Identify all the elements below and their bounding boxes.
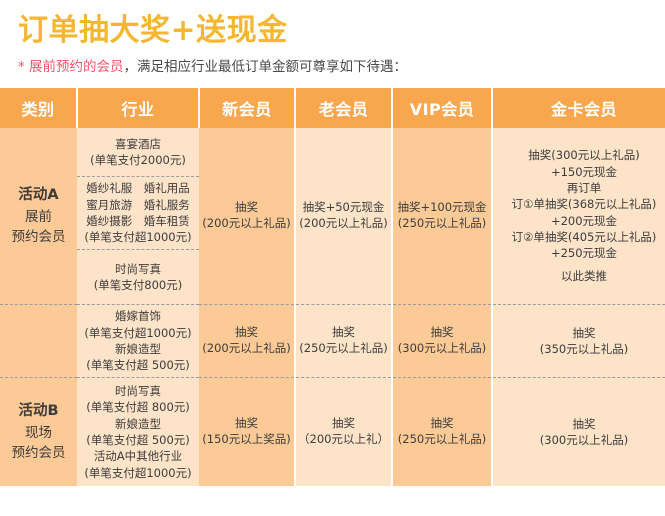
benefit-line: (150元以上奖品) [199,432,294,448]
benefit-line: 抽奖+50元现金 [296,200,391,216]
benefit-line: (250元以上礼品) [393,216,491,232]
benefit-line: 抽奖 [493,325,665,341]
benefit-cell-a-new: 抽奖 (200元以上礼品) [199,128,295,304]
table-header: 类别 行业 新会员 老会员 VIP会员 金卡会员 [0,88,665,128]
benefit-line: +200元现金 [493,213,665,229]
benefit-line: (250元以上礼品) [393,432,491,448]
industry-line: 时尚写真 [77,261,199,277]
promo-subtitle: * 展前预约的会员，满足相应行业最低订单金额可尊享如下待遇： [18,59,665,75]
industry-line: (单笔支付超 800元) [77,399,199,415]
industry-line: (单笔支付超1000元) [77,229,199,245]
category-cell-activity-a: 活动A 展前 预约会员 [0,128,77,304]
benefit-line: 抽奖 [199,325,294,341]
category-sub-1: 现场 [0,423,77,443]
column-header-gold-member: 金卡会员 [492,88,665,128]
benefit-line: 抽奖+100元现金 [393,200,491,216]
industry-cell-fashion-photo: 时尚写真 (单笔支付800元) [77,250,199,305]
benefit-cell-a-old: 抽奖+50元现金 (200元以上礼品) [295,128,392,304]
benefit-line: (300元以上礼品) [493,432,665,448]
industry-line: (单笔支付超1000元) [77,325,199,341]
industry-cell-activity-b: 时尚写真 (单笔支付超 800元) 新娘造型 (单笔支付超 500元) 活动A中… [77,378,199,487]
benefit-line: 抽奖 [199,200,294,216]
category-sub-1: 展前 [0,207,77,227]
benefits-table: 类别 行业 新会员 老会员 VIP会员 金卡会员 活动A 展前 预约会员 喜宴酒… [0,88,665,486]
table-row: 活动A 展前 预约会员 喜宴酒店 (单笔支付2000元) 抽奖 (200元以上礼… [0,128,665,177]
benefit-line: 订①单抽奖(368元以上礼品) [493,196,665,212]
benefit-cell-b-old: 抽奖 （200元以上礼） [295,378,392,487]
table-body: 活动A 展前 预约会员 喜宴酒店 (单笔支付2000元) 抽奖 (200元以上礼… [0,128,665,486]
industry-line: 婚纱礼服 婚礼用品 [77,180,199,196]
promo-subtitle-rest: ，满足相应行业最低订单金额可尊享如下待遇： [124,59,408,75]
column-header-vip-member: VIP会员 [392,88,492,128]
benefit-line: （200元以上礼） [296,432,391,448]
benefit-spacer [493,261,665,268]
benefit-line: +250元现金 [493,245,665,261]
benefit-line: (200元以上礼品) [296,216,391,232]
industry-line: (单笔支付2000元) [77,152,199,168]
benefit-line: 抽奖 [296,325,391,341]
promo-subtitle-highlight: * 展前预约的会员 [18,59,124,75]
benefit-cell-a-vip: 抽奖+100元现金 (250元以上礼品) [392,128,492,304]
benefit-line: 以此类推 [493,268,665,284]
industry-line: (单笔支付超 500元) [77,357,199,373]
column-header-category: 类别 [0,88,77,128]
industry-line: 活动A中其他行业 [77,448,199,464]
benefit-line: (200元以上礼品) [199,341,294,357]
column-header-new-member: 新会员 [199,88,295,128]
category-cell-activity-a-cont [0,305,77,378]
benefit-cell-a2-new: 抽奖 (200元以上礼品) [199,305,295,378]
benefit-cell-b-vip: 抽奖 (250元以上礼品) [392,378,492,487]
column-header-industry: 行业 [77,88,199,128]
benefit-line: 订②单抽奖(405元以上礼品) [493,229,665,245]
table-row: 婚嫁首饰 (单笔支付超1000元) 新娘造型 (单笔支付超 500元) 抽奖 (… [0,305,665,378]
category-name: 活动B [0,401,77,423]
benefit-cell-a-gold: 抽奖(300元以上礼品) +150元现金 再订单 订①单抽奖(368元以上礼品)… [492,128,665,304]
benefit-cell-b-gold: 抽奖 (300元以上礼品) [492,378,665,487]
industry-line: (单笔支付超1000元) [77,465,199,481]
category-name: 活动A [0,185,77,207]
industry-line: 蜜月旅游 婚礼服务 [77,197,199,213]
benefit-line: (300元以上礼品) [393,341,491,357]
page-title: 订单抽大奖+送现金 [18,12,665,50]
benefit-line: (200元以上礼品) [199,216,294,232]
category-sub-2: 预约会员 [0,443,77,463]
industry-line: 时尚写真 [77,383,199,399]
category-cell-activity-b: 活动B 现场 预约会员 [0,378,77,487]
industry-cell-jewelry: 婚嫁首饰 (单笔支付超1000元) 新娘造型 (单笔支付超 500元) [77,305,199,378]
benefit-cell-a2-gold: 抽奖 (350元以上礼品) [492,305,665,378]
industry-line: 婚纱摄影 婚车租赁 [77,213,199,229]
benefit-line: 抽奖 [296,416,391,432]
industry-line: (单笔支付800元) [77,277,199,293]
column-header-old-member: 老会员 [295,88,392,128]
benefit-cell-a2-old: 抽奖 (250元以上礼品) [295,305,392,378]
industry-line: 新娘造型 [77,416,199,432]
benefit-cell-b-new: 抽奖 (150元以上奖品) [199,378,295,487]
promo-header: 订单抽大奖+送现金 * 展前预约的会员，满足相应行业最低订单金额可尊享如下待遇： [0,0,665,75]
benefit-line: 再订单 [493,180,665,196]
benefit-line: 抽奖 [493,416,665,432]
industry-line: 喜宴酒店 [77,136,199,152]
table-header-row: 类别 行业 新会员 老会员 VIP会员 金卡会员 [0,88,665,128]
industry-line: (单笔支付超 500元) [77,432,199,448]
industry-line: 新娘造型 [77,341,199,357]
industry-line: 婚嫁首饰 [77,308,199,324]
benefit-line: 抽奖 [393,416,491,432]
benefit-line: 抽奖 [393,325,491,341]
table-row: 活动B 现场 预约会员 时尚写真 (单笔支付超 800元) 新娘造型 (单笔支付… [0,378,665,487]
benefit-line: 抽奖(300元以上礼品) [493,147,665,163]
benefit-line: (250元以上礼品) [296,341,391,357]
benefit-cell-a2-vip: 抽奖 (300元以上礼品) [392,305,492,378]
benefit-line: 抽奖 [199,416,294,432]
benefit-line: (350元以上礼品) [493,341,665,357]
industry-cell-banquet: 喜宴酒店 (单笔支付2000元) [77,128,199,177]
category-sub-2: 预约会员 [0,227,77,247]
benefit-line: +150元现金 [493,164,665,180]
industry-cell-wedding-services: 婚纱礼服 婚礼用品 蜜月旅游 婚礼服务 婚纱摄影 婚车租赁 (单笔支付超1000… [77,177,199,250]
